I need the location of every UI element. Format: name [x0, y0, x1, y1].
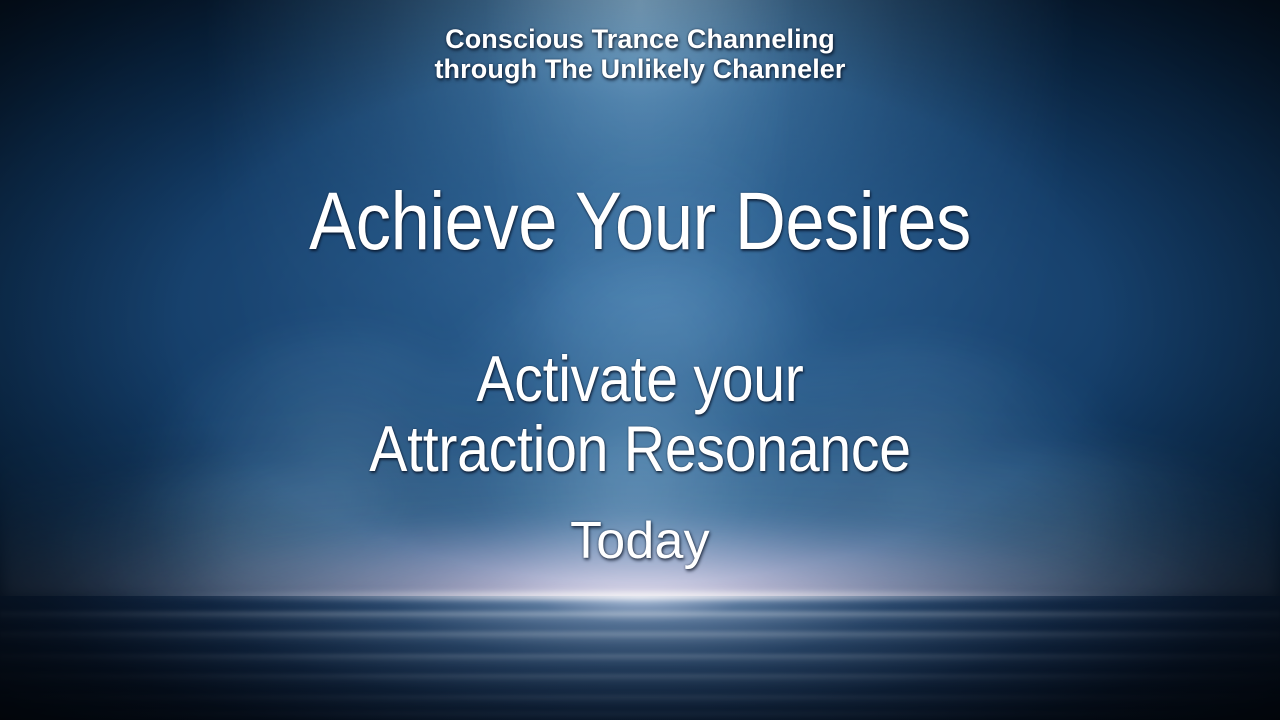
presentation-slide: Conscious Trance Channeling through The … — [0, 0, 1280, 720]
page-title: Achieve Your Desires — [90, 178, 1191, 266]
channel-header: Conscious Trance Channeling through The … — [0, 24, 1280, 84]
slide-text-layer: Conscious Trance Channeling through The … — [0, 0, 1280, 720]
closing-line: Today — [0, 512, 1280, 570]
sub-heading: Activate your Attraction Resonance — [77, 344, 1203, 484]
